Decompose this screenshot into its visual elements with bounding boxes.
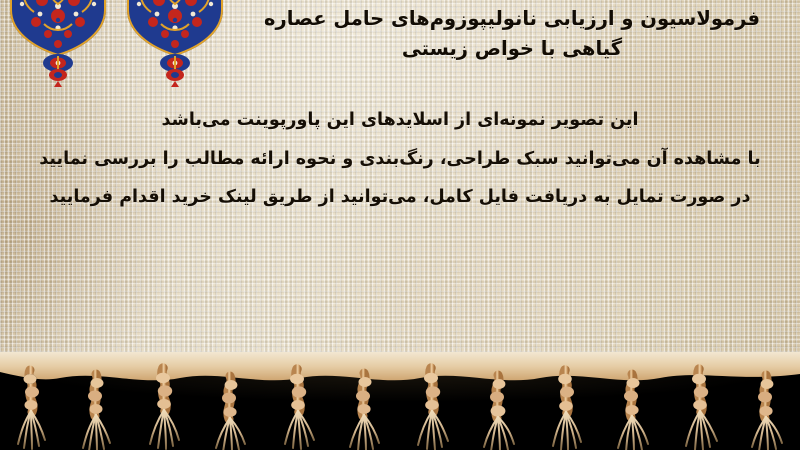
slide-canvas: فرمولاسیون و ارزیابی نانولیپوزوم‌های حام… [0,0,800,450]
persian-medallion-right-graphic [125,0,225,88]
persian-medallion-ornament-right [125,0,225,88]
ornament-pendant-right [160,54,190,87]
slide-body: این تصویر نمونه‌ای از اسلایدهای این پاور… [20,112,780,207]
tassel-group [18,368,782,450]
body-line-3: در صورت تمایل به دریافت فایل کامل، می‌تو… [20,189,780,207]
persian-medallion-ornament-left [8,0,108,88]
body-line-2: با مشاهده آن می‌توانید سبک طراحی، رنگ‌بن… [20,151,780,169]
persian-medallion-left-graphic [8,0,108,88]
fringe-graphic [0,352,800,450]
fringe-hem [0,352,800,380]
slide-title: فرمولاسیون و ارزیابی نانولیپوزوم‌های حام… [232,4,792,64]
body-line-1: این تصویر نمونه‌ای از اسلایدهای این پاور… [20,112,780,130]
ornament-pendant-left [43,54,73,87]
carpet-fringe-tassels [0,352,800,450]
